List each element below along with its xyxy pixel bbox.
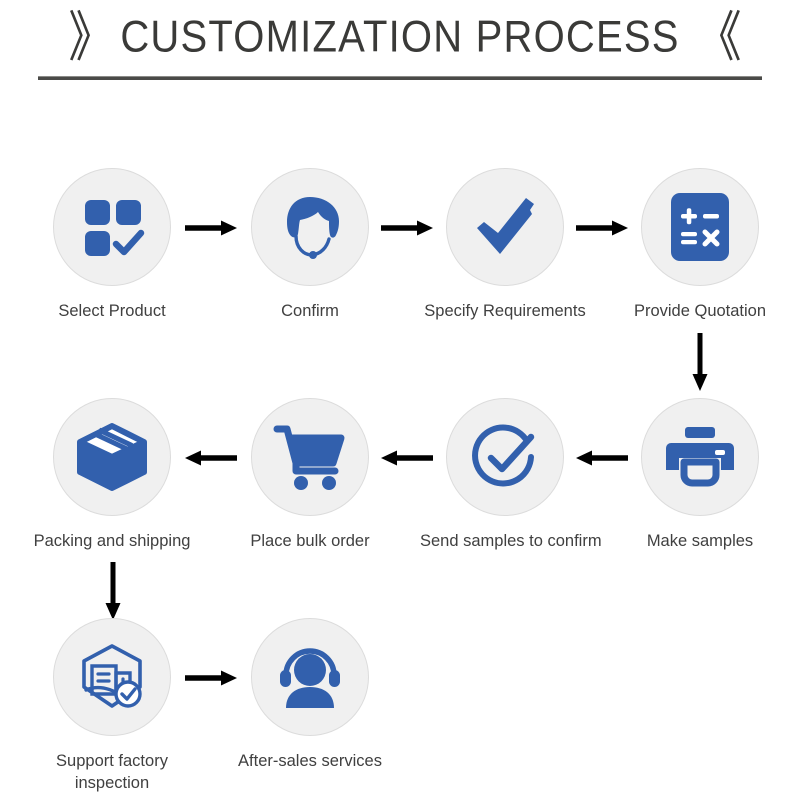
arrow-row2-step4-to-step3 xyxy=(576,449,628,467)
arrow-row1-step3-to-step4 xyxy=(576,219,628,237)
flow-step-send-samples-to-confirm[interactable]: Send samples to confirm xyxy=(420,398,590,552)
headset-agent-icon xyxy=(273,190,347,264)
flow-step-label: Select Product xyxy=(27,300,197,322)
flow-step-label: Packing and shipping xyxy=(27,530,197,552)
arrow-row2-step2-to-step1 xyxy=(185,449,237,467)
flow-step-confirm[interactable]: Confirm xyxy=(225,168,395,322)
step-icon-circle xyxy=(641,168,759,286)
shopping-cart-icon xyxy=(273,423,347,491)
flow-step-place-bulk-order[interactable]: Place bulk order xyxy=(225,398,395,552)
double-chevron-right-icon: 》 xyxy=(68,10,114,64)
step-icon-circle xyxy=(53,168,171,286)
printer-icon xyxy=(663,425,737,489)
flow-step-label: Place bulk order xyxy=(225,530,395,552)
calculator-icon xyxy=(669,191,731,263)
arrow-row1-step1-to-step2 xyxy=(185,219,237,237)
factory-shield-check-icon xyxy=(76,642,148,712)
double-chevron-left-icon: 《 xyxy=(686,10,732,64)
step-icon-circle xyxy=(251,618,369,736)
arrow-row1-to-row2 xyxy=(690,333,710,391)
title-row: 》 CUSTOMIZATION PROCESS 《 xyxy=(0,8,800,66)
page-header: 》 CUSTOMIZATION PROCESS 《 xyxy=(0,0,800,92)
step-icon-circle xyxy=(53,398,171,516)
flow-step-label: Specify Requirements xyxy=(420,300,590,322)
package-box-icon xyxy=(75,422,149,492)
flow-step-label: Confirm xyxy=(225,300,395,322)
page-title: CUSTOMIZATION PROCESS xyxy=(120,12,679,62)
arrow-row2-to-row3 xyxy=(103,562,123,620)
flow-step-label: Send samples to confirm xyxy=(420,530,590,552)
flow-step-label: Support factory inspection xyxy=(27,750,197,795)
flow-step-label: Provide Quotation xyxy=(615,300,785,322)
headphones-person-icon xyxy=(274,644,346,710)
step-icon-circle xyxy=(446,398,564,516)
step-icon-circle xyxy=(641,398,759,516)
flow-step-specify-requirements[interactable]: Specify Requirements xyxy=(420,168,590,322)
flow-step-select-product[interactable]: Select Product xyxy=(27,168,197,322)
arrow-row3-step1-to-step2 xyxy=(185,669,237,687)
flow-step-after-sales-services[interactable]: After-sales services xyxy=(225,618,395,772)
step-icon-circle xyxy=(446,168,564,286)
checkmark-icon xyxy=(469,191,541,263)
step-icon-circle xyxy=(251,398,369,516)
arrow-row2-step3-to-step2 xyxy=(381,449,433,467)
flow-step-make-samples[interactable]: Make samples xyxy=(615,398,785,552)
flow-step-packing-and-shipping[interactable]: Packing and shipping xyxy=(27,398,197,552)
flow-step-label: Make samples xyxy=(615,530,785,552)
grid-check-icon xyxy=(77,192,147,262)
arrow-row1-step2-to-step3 xyxy=(381,219,433,237)
circle-check-icon xyxy=(469,421,541,493)
step-icon-circle xyxy=(53,618,171,736)
flow-step-label: After-sales services xyxy=(225,750,395,772)
flow-step-support-factory-inspection[interactable]: Support factory inspection xyxy=(27,618,197,795)
step-icon-circle xyxy=(251,168,369,286)
title-divider xyxy=(38,76,762,80)
flow-step-provide-quotation[interactable]: Provide Quotation xyxy=(615,168,785,322)
